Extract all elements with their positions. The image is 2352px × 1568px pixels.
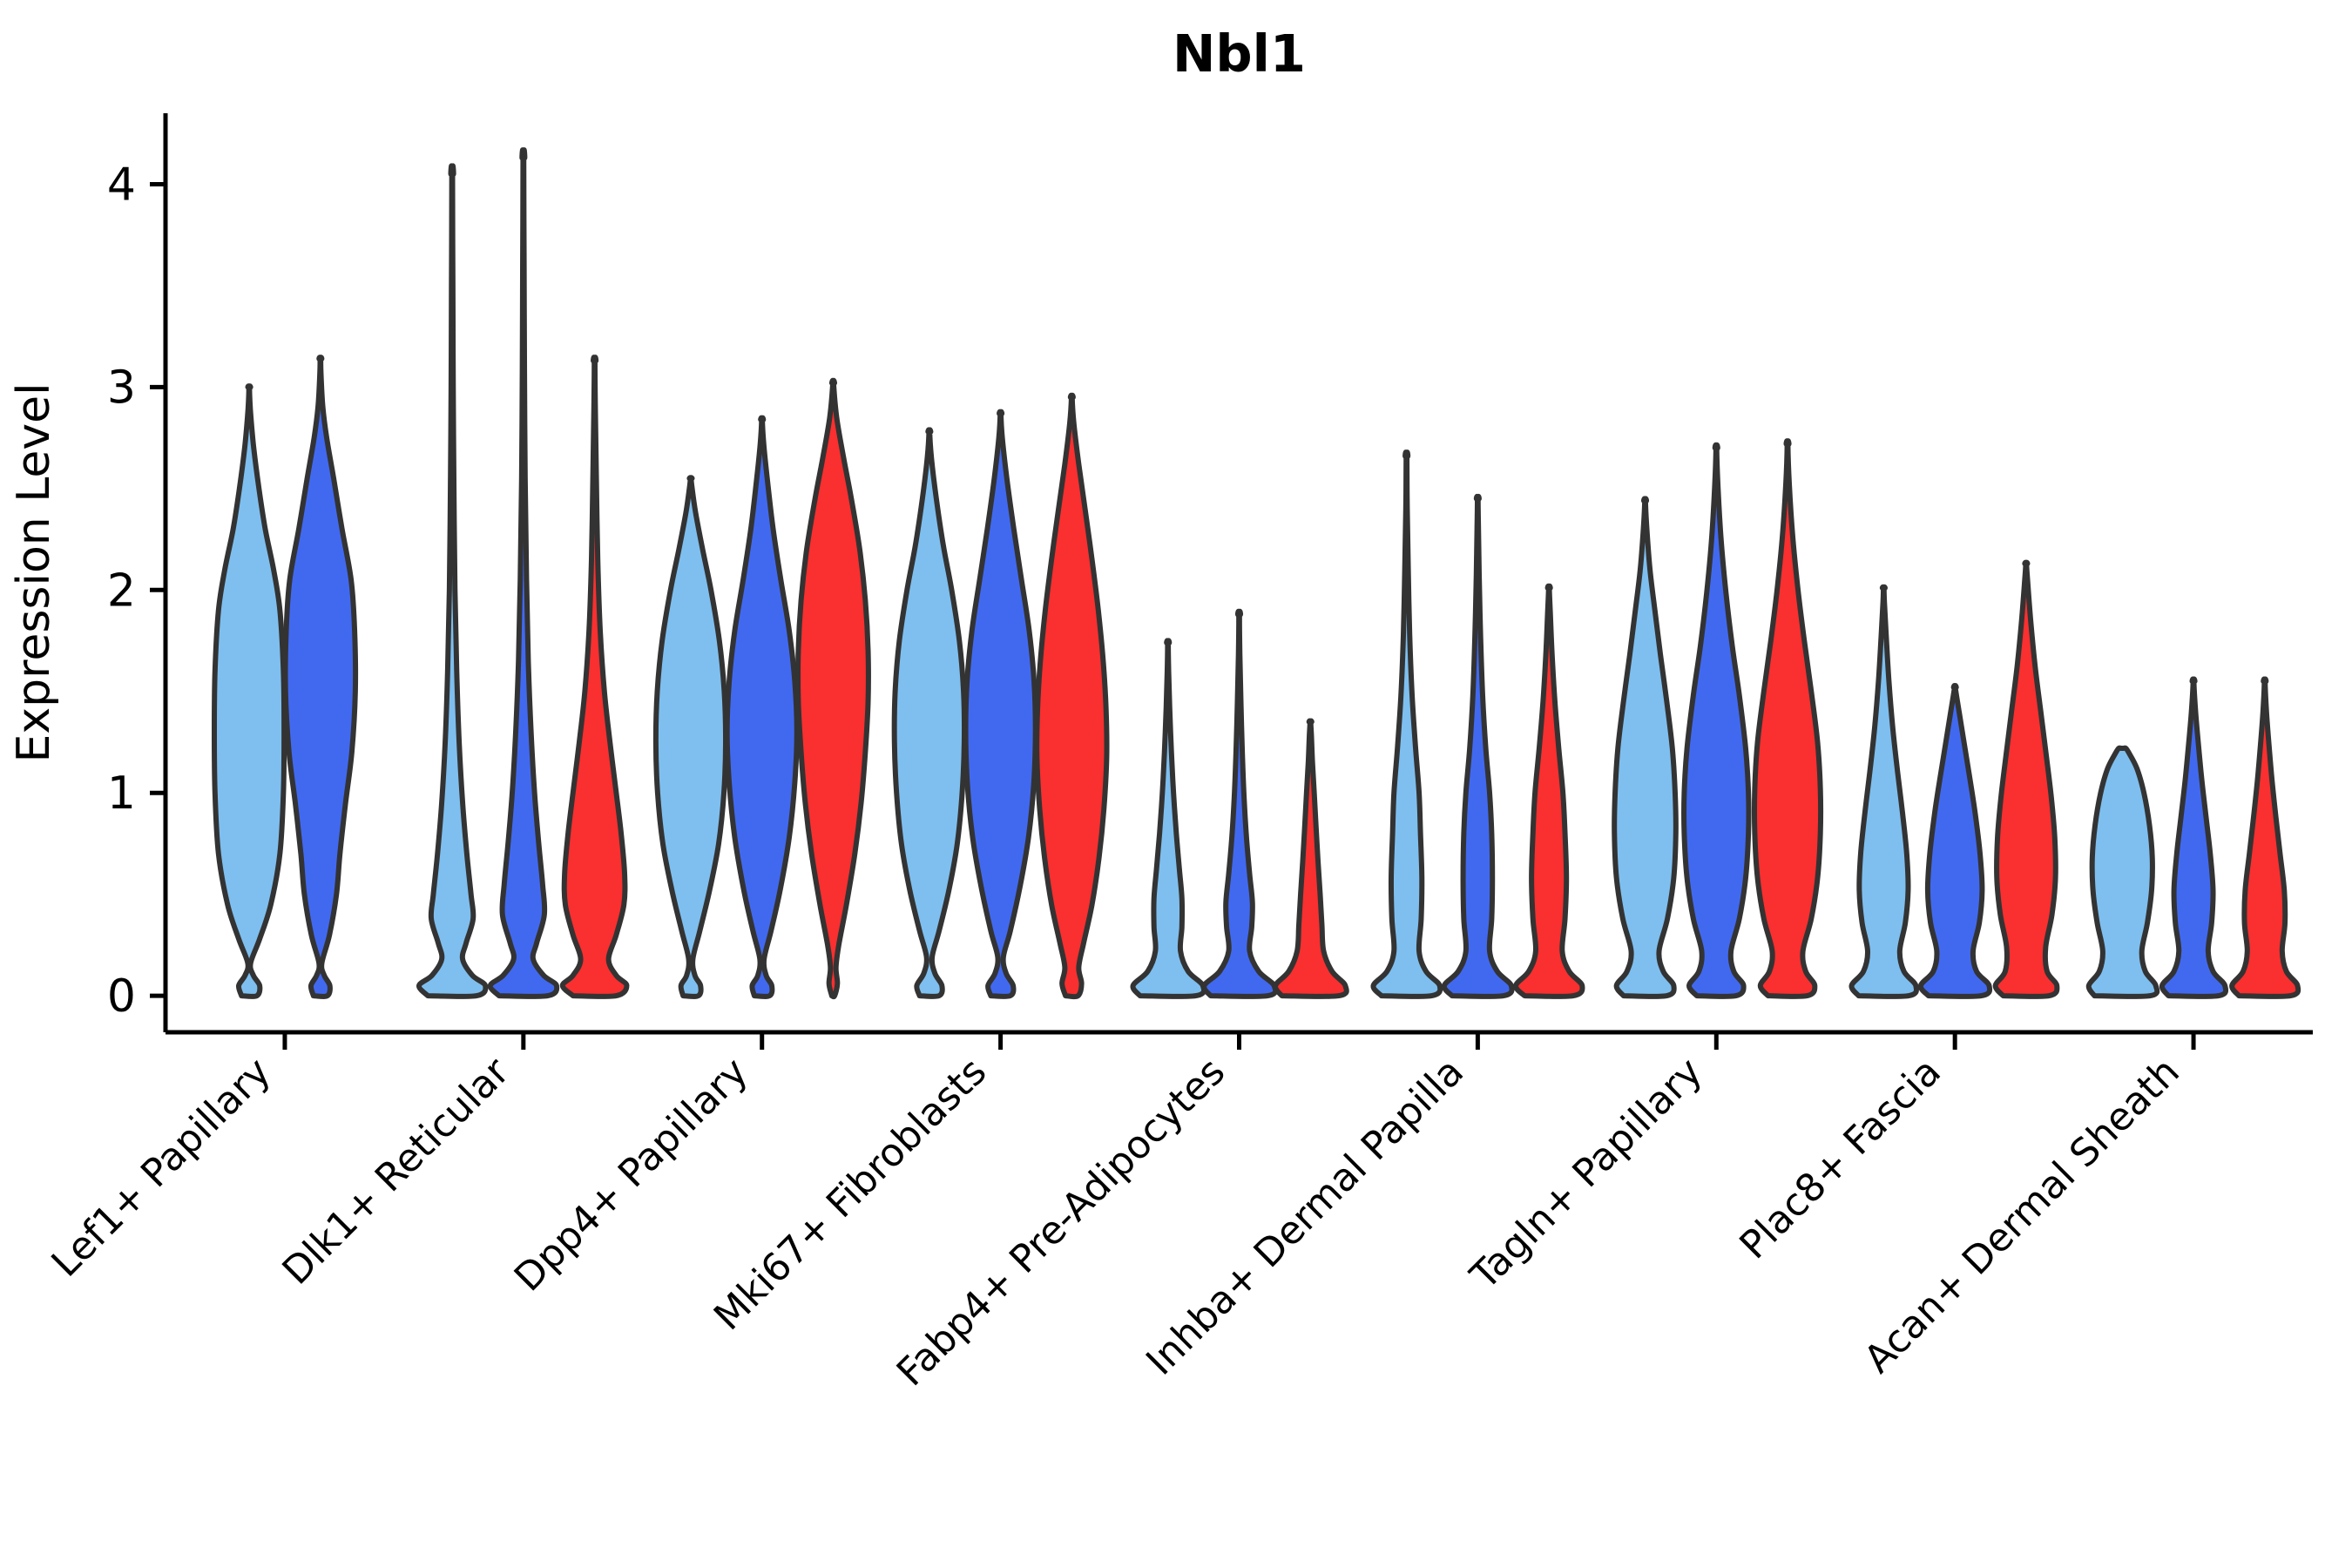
- violin-body: [1921, 686, 1990, 997]
- violin-body: [1275, 720, 1347, 996]
- violin-body: [2162, 679, 2226, 997]
- violin-blue: [286, 357, 356, 997]
- violin-body: [798, 381, 868, 997]
- x-tick-label: Lef1+ Papillary: [44, 1050, 280, 1286]
- violin-red: [563, 357, 627, 997]
- violin-light_blue: [656, 477, 726, 997]
- violin-light_blue: [1373, 452, 1440, 997]
- violin-body: [1614, 498, 1676, 997]
- violin-body: [214, 386, 284, 997]
- violin-shapes-layer: [214, 150, 2298, 997]
- violin-body: [2089, 748, 2158, 997]
- violin-blue: [1444, 497, 1512, 997]
- violin-body: [895, 429, 964, 997]
- violin-body: [727, 418, 797, 997]
- violin-body: [966, 412, 1036, 997]
- violin-body: [2232, 679, 2298, 997]
- violin-body: [1037, 395, 1106, 997]
- violin-red: [1275, 720, 1347, 996]
- violin-blue: [490, 150, 557, 997]
- violin-red: [1516, 586, 1582, 997]
- violin-body: [1996, 563, 2058, 997]
- violin-light_blue: [2089, 748, 2158, 997]
- violin-blue: [2162, 679, 2226, 997]
- x-tick-label: Dlk1+ Reticular: [274, 1049, 519, 1294]
- violin-blue: [1921, 686, 1990, 997]
- y-tick-label: 1: [107, 767, 136, 820]
- violin-light_blue: [1851, 587, 1916, 997]
- violin-red: [1996, 563, 2058, 997]
- violin-body: [1516, 586, 1582, 997]
- violin-body: [1133, 640, 1205, 997]
- x-tick-label: Mki67+ Fibroblasts: [706, 1050, 995, 1339]
- violin-plot-figure: 01234Lef1+ PapillaryDlk1+ ReticularDpp4+…: [0, 0, 2352, 1568]
- violin-light_blue: [1614, 498, 1676, 997]
- x-tick-label: Plac8+ Fascia: [1731, 1050, 1950, 1268]
- violin-body: [419, 166, 485, 997]
- violin-body: [1444, 497, 1512, 997]
- violin-body: [1204, 612, 1275, 997]
- violin-body: [1684, 445, 1749, 997]
- violin-light_blue: [895, 429, 964, 997]
- violin-blue: [1684, 445, 1749, 997]
- y-axis-label: Expression Level: [8, 382, 60, 762]
- violin-blue: [1204, 612, 1275, 997]
- violin-body: [1373, 452, 1440, 997]
- violin-light_blue: [1133, 640, 1205, 997]
- violin-red: [1754, 441, 1821, 997]
- violin-body: [1851, 587, 1916, 997]
- violin-body: [286, 357, 356, 997]
- violin-body: [656, 477, 726, 997]
- y-tick-label: 0: [107, 970, 136, 1023]
- x-tick-label: Tagln+ Papillary: [1462, 1050, 1711, 1299]
- violin-body: [1754, 441, 1821, 997]
- violin-blue: [966, 412, 1036, 997]
- violin-blue: [727, 418, 797, 997]
- violin-body: [490, 150, 557, 997]
- violin-red: [798, 381, 868, 997]
- violin-red: [1037, 395, 1106, 997]
- violin-light_blue: [214, 386, 284, 997]
- y-tick-label: 3: [107, 362, 136, 414]
- violin-body: [563, 357, 627, 997]
- violin-red: [2232, 679, 2298, 997]
- y-tick-label: 2: [107, 564, 136, 617]
- chart-title: Nbl1: [1173, 24, 1306, 84]
- violin-light_blue: [419, 166, 485, 997]
- y-tick-label: 4: [107, 159, 136, 212]
- x-tick-label: Dpp4+ Papillary: [506, 1050, 757, 1301]
- plot-canvas: 01234Lef1+ PapillaryDlk1+ ReticularDpp4+…: [0, 0, 2352, 1568]
